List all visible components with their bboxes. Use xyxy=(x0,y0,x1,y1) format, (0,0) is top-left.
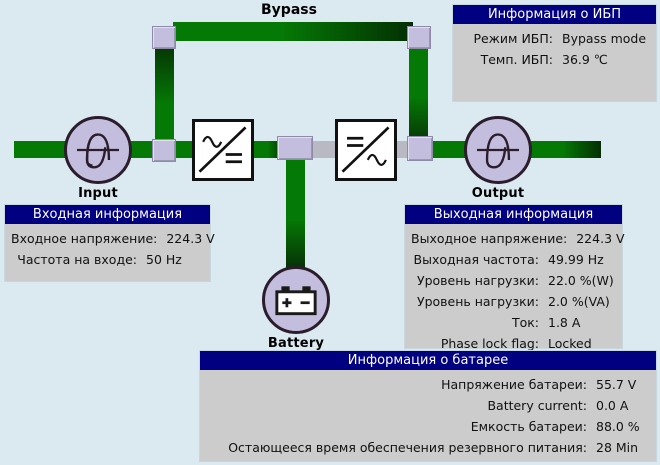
output-info-panel: Выходная информация Выходное напряжение:… xyxy=(404,204,623,349)
row-key: Уровень нагрузки: xyxy=(411,270,548,291)
row-value: Bypass mode xyxy=(562,28,648,49)
wire-bypass-riser-right xyxy=(409,37,428,147)
ac-source-icon xyxy=(464,116,532,184)
battery-info-title: Информация о батарее xyxy=(200,351,656,370)
row-key: Темп. ИБП: xyxy=(459,49,562,70)
ac-to-dc-converter-icon xyxy=(192,119,254,181)
table-row: Ток: 1.8 A xyxy=(411,312,614,333)
table-row: Напряжение батареи: 55.7 V xyxy=(206,374,648,395)
row-key: Входное напряжение: xyxy=(11,228,166,249)
row-key: Режим ИБП: xyxy=(459,28,562,49)
row-key: Емкость батареи: xyxy=(206,416,596,437)
bypass-label: Bypass xyxy=(261,2,317,18)
row-key: Частота на входе: xyxy=(11,249,146,270)
output-label: Output xyxy=(464,186,532,201)
wire-bypass-bar xyxy=(173,22,413,41)
ups-single-line-diagram: Bypass Input xyxy=(0,0,660,465)
row-key: Уровень нагрузки: xyxy=(411,291,548,312)
output-info-title: Выходная информация xyxy=(405,205,622,224)
wire-output-to-load xyxy=(430,141,466,158)
row-value: 88.0 % xyxy=(596,416,648,437)
junction-node-bypass-input xyxy=(152,139,176,162)
ups-info-panel: Информация о ИБП Режим ИБП: Bypass mode … xyxy=(452,4,657,102)
output-device: Output xyxy=(464,116,532,201)
table-row: Режим ИБП: Bypass mode xyxy=(459,28,648,49)
input-device: Input xyxy=(64,116,132,201)
row-value: 49.99 Hz xyxy=(548,249,614,270)
table-row: Остающееся время обеспечения резервного … xyxy=(206,437,648,458)
ac-source-icon xyxy=(64,116,132,184)
junction-node-bypass-right xyxy=(407,26,431,49)
table-row: Battery current: 0.0 A xyxy=(206,395,648,416)
row-key: Выходная частота: xyxy=(411,249,548,270)
row-key: Напряжение батареи: xyxy=(206,374,596,395)
battery-info-panel: Информация о батарее Напряжение батареи:… xyxy=(199,350,657,462)
input-info-panel: Входная информация Входное напряжение: 2… xyxy=(4,204,211,282)
table-row: Частота на входе: 50 Hz xyxy=(11,249,202,270)
table-row: Темп. ИБП: 36.9 ℃ xyxy=(459,49,648,70)
battery-label: Battery xyxy=(262,336,330,351)
row-key: Выходное напряжение: xyxy=(411,228,576,249)
wire-input-feed xyxy=(14,141,66,158)
output-info-body: Выходное напряжение: 224.3 V Выходная ча… xyxy=(405,224,622,358)
row-key: Ток: xyxy=(411,312,548,333)
table-row: Уровень нагрузки: 2.0 %(VA) xyxy=(411,291,614,312)
input-info-body: Входное напряжение: 224.3 V Частота на в… xyxy=(5,224,210,274)
row-value: 55.7 V xyxy=(596,374,648,395)
table-row: Выходное напряжение: 224.3 V xyxy=(411,228,614,249)
ups-info-body: Режим ИБП: Bypass mode Темп. ИБП: 36.9 ℃ xyxy=(453,24,656,74)
dc-to-ac-inverter-icon xyxy=(335,119,397,181)
row-key: Остающееся время обеспечения резервного … xyxy=(206,437,596,458)
row-value: 224.3 V xyxy=(166,228,222,249)
row-key: Battery current: xyxy=(206,395,596,416)
junction-node-output xyxy=(407,136,433,161)
row-value: 50 Hz xyxy=(146,249,202,270)
table-row: Выходная частота: 49.99 Hz xyxy=(411,249,614,270)
input-info-title: Входная информация xyxy=(5,205,210,224)
row-value: 36.9 ℃ xyxy=(562,49,648,70)
wire-bypass-riser-left xyxy=(155,37,174,149)
row-value: 0.0 A xyxy=(596,395,648,416)
table-row: Входное напряжение: 224.3 V xyxy=(11,228,202,249)
row-value: 1.8 A xyxy=(548,312,614,333)
row-value: 22.0 %(W) xyxy=(548,270,614,291)
row-value: 224.3 V xyxy=(576,228,642,249)
wire-load-feed xyxy=(531,141,601,158)
battery-icon xyxy=(262,266,330,334)
wire-battery-link xyxy=(286,158,305,270)
input-label: Input xyxy=(64,186,132,201)
junction-node-bypass-left xyxy=(152,26,176,49)
table-row: Емкость батареи: 88.0 % xyxy=(206,416,648,437)
junction-node-dc-bus xyxy=(277,136,313,160)
row-value: 28 Min xyxy=(596,437,648,458)
battery-device: Battery xyxy=(262,266,330,351)
row-value: 2.0 %(VA) xyxy=(548,291,614,312)
table-row: Уровень нагрузки: 22.0 %(W) xyxy=(411,270,614,291)
battery-info-body: Напряжение батареи: 55.7 V Battery curre… xyxy=(200,370,656,462)
ups-info-title: Информация о ИБП xyxy=(453,5,656,24)
